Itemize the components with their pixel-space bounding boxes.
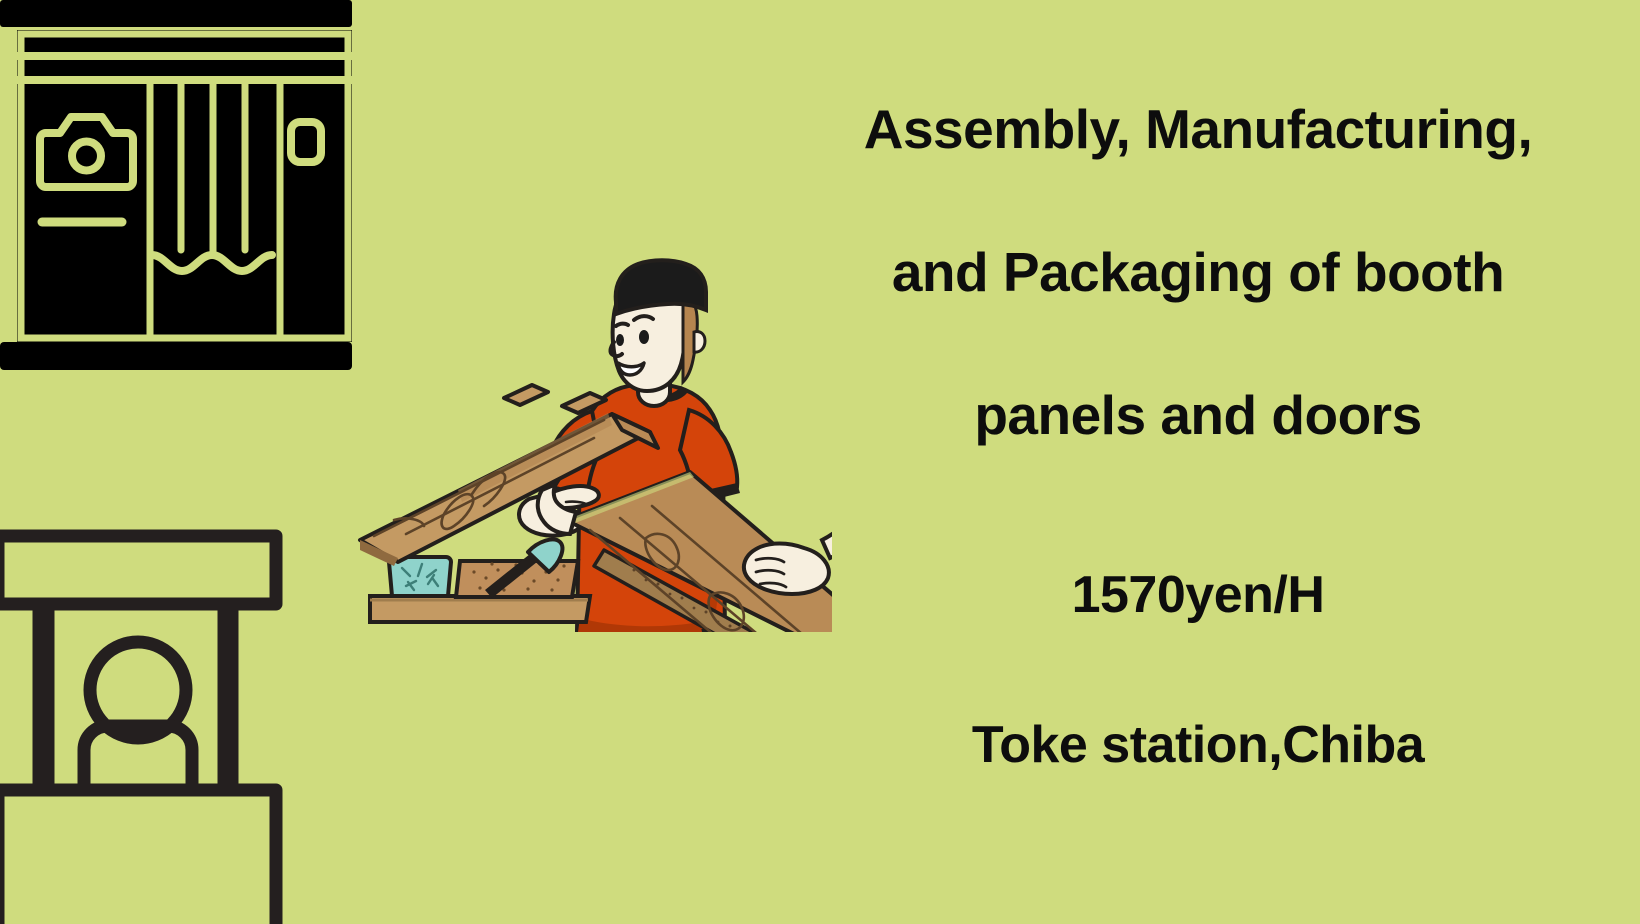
wage-text: 1570yen/H	[848, 520, 1548, 670]
photo-booth-icon	[0, 0, 370, 372]
location-text: Toke station,Chiba	[848, 670, 1548, 820]
photo-booth-base-bar	[0, 342, 352, 370]
carpenter-head	[610, 260, 706, 406]
kiosk-canopy	[0, 536, 276, 604]
ear	[694, 331, 705, 352]
headline-line-2: and Packaging of booth	[848, 201, 1548, 344]
headline-line-1: Assembly, Manufacturing,	[848, 58, 1548, 201]
kiosk-counter	[0, 790, 276, 924]
carpenter-illustration	[352, 250, 832, 632]
details-text-block: 1570yen/H Toke station,Chiba	[848, 520, 1548, 820]
photo-booth-top-bar	[0, 0, 352, 27]
right-forearm	[822, 516, 832, 558]
eye-left	[616, 334, 624, 346]
job-advertisement-banner: Assembly, Manufacturing, and Packaging o…	[0, 0, 1640, 924]
headline-text-block: Assembly, Manufacturing, and Packaging o…	[848, 58, 1548, 487]
headline-line-3: panels and doors	[848, 344, 1548, 487]
hair	[616, 260, 706, 314]
kiosk-booth-icon	[0, 528, 292, 924]
tenon-peg-left	[504, 385, 548, 405]
eye-right	[639, 330, 649, 344]
